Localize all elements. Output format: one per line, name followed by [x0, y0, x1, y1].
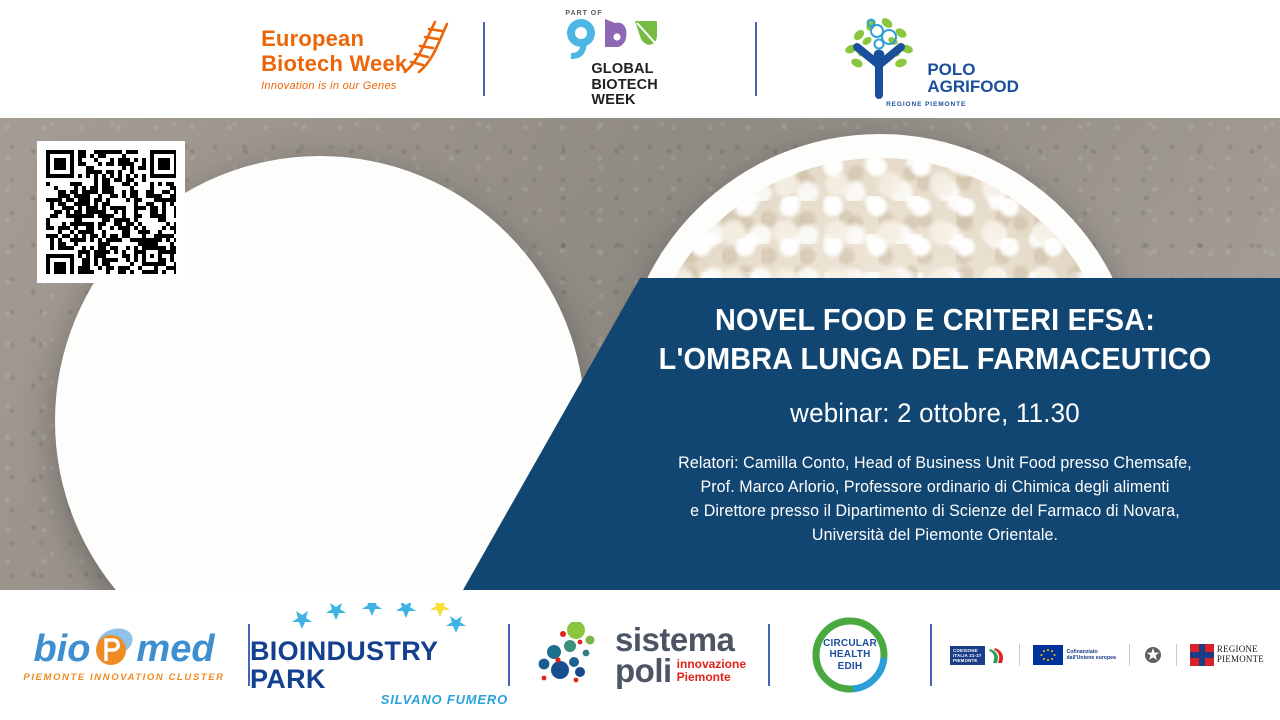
speaker-line-2: Prof. Marco Arlorio, Professore ordinari… [634, 475, 1235, 499]
circular-health-line3: EDIH [823, 661, 877, 673]
polo-line2: AGRIFOOD [927, 78, 1019, 95]
webinar-poster: European Biotech Week Innovation is in o… [0, 0, 1280, 720]
coesione-line3: PIEMONTE [953, 658, 982, 663]
header-divider-2 [755, 22, 757, 96]
piemonte-cross-icon [1190, 644, 1214, 666]
sistema-poli-tag2: Piemonte [677, 671, 746, 684]
logo-global-biotech-week: PART OF GLOBAL BIOTECH WEEK [561, 10, 679, 108]
header-logo-bar: European Biotech Week Innovation is in o… [0, 0, 1280, 118]
ebw-line2: Biotech Week [261, 51, 407, 76]
title-line-2: L'OMBRA LUNGA DEL FARMACEUTICO [647, 339, 1224, 378]
institutional-divider-3 [1176, 644, 1177, 666]
agrifood-tree-person-icon [833, 11, 925, 99]
logo-regione-piemonte: REGIONE PIEMONTE [1190, 644, 1264, 666]
title-line-1: NOVEL FOOD E CRITERI EFSA: [647, 300, 1224, 339]
speakers-block: Relatori: Camilla Conto, Head of Busines… [634, 451, 1235, 547]
footer-logo-bar: bio med PIEMONTE INNOVATION CLUSTER [0, 590, 1280, 720]
speaker-line-1: Relatori: Camilla Conto, Head of Busines… [634, 451, 1235, 475]
sistema-poli-tag1: innovazione [677, 658, 746, 671]
circular-health-line1: CIRCULAR [823, 638, 877, 650]
biopmed-text-a: bio [33, 630, 90, 668]
webinar-datetime: webinar: 2 ottobre, 11.30 [637, 398, 1232, 429]
speaker-line-4: Università del Piemonte Orientale. [634, 523, 1235, 547]
logo-european-biotech-week: European Biotech Week Innovation is in o… [261, 26, 407, 92]
polo-subtitle: REGIONE PIEMONTE [886, 101, 966, 108]
polo-line1: POLO [927, 61, 1019, 78]
institutional-logo-strip: COESIONE ITALIA 21-27 PIEMONTE [950, 643, 1264, 667]
circular-health-line2: HEALTH [823, 649, 877, 661]
logo-sistema-poli: sistema poli innovazione Piemonte [510, 622, 768, 688]
logo-circular-health-edih: CIRCULAR HEALTH EDIH [770, 616, 930, 694]
biopmed-subtitle: PIEMONTE INNOVATION CLUSTER [23, 672, 224, 683]
bioindustry-park-title: BIOINDUSTRY PARK [250, 637, 508, 693]
footer-divider-4 [930, 624, 932, 686]
institutional-divider-1 [1019, 644, 1020, 666]
eu-line2: dall'Unione europea [1067, 655, 1116, 661]
coesione-line2: ITALIA 21-27 [953, 653, 982, 658]
logo-biopmed: bio med PIEMONTE INNOVATION CLUSTER [0, 627, 248, 683]
ebw-line1: European [261, 26, 364, 51]
eu-flag-icon [1033, 645, 1063, 665]
global-biotech-week-mark-icon [561, 15, 679, 61]
ebw-tagline: Innovation is in our Genes [261, 80, 397, 92]
regione-line2: PIEMONTE [1217, 655, 1264, 665]
italian-republic-emblem-icon [1143, 643, 1163, 667]
gbw-line2: BIOTECH [591, 78, 658, 93]
gbw-line1: GLOBAL [591, 62, 653, 77]
italy-flag-swoosh-icon [988, 645, 1006, 665]
logo-bioindustry-park: BIOINDUSTRY PARK SILVANO FUMERO [250, 603, 508, 707]
qr-code[interactable] [37, 141, 185, 283]
coesione-line1: COESIONE [953, 648, 982, 653]
biopmed-text-b: med [136, 630, 214, 668]
biopmed-p-mark-icon [91, 627, 135, 671]
bioindustry-park-subtitle: SILVANO FUMERO [381, 692, 508, 707]
stars-arc-icon [284, 603, 474, 637]
logo-coesione-italia: COESIONE ITALIA 21-27 PIEMONTE [950, 645, 1006, 665]
dna-helix-icon [389, 16, 451, 76]
sistema-poli-dots-icon [532, 622, 608, 688]
logo-polo-agrifood: POLO AGRIFOOD REGIONE PIEMONTE [833, 11, 1019, 108]
panel-text-block: NOVEL FOOD E CRITERI EFSA: L'OMBRA LUNGA… [625, 300, 1245, 547]
gbw-line3: WEEK [591, 93, 635, 108]
speaker-line-3: e Direttore presso il Dipartimento di Sc… [634, 499, 1235, 523]
logo-eu-cofunded: Cofinanziato dall'Unione europea [1033, 645, 1116, 665]
sistema-poli-line2: poli [615, 655, 672, 686]
sistema-poli-line1: sistema [615, 624, 746, 655]
institutional-divider-2 [1129, 644, 1130, 666]
header-divider-1 [483, 22, 485, 96]
